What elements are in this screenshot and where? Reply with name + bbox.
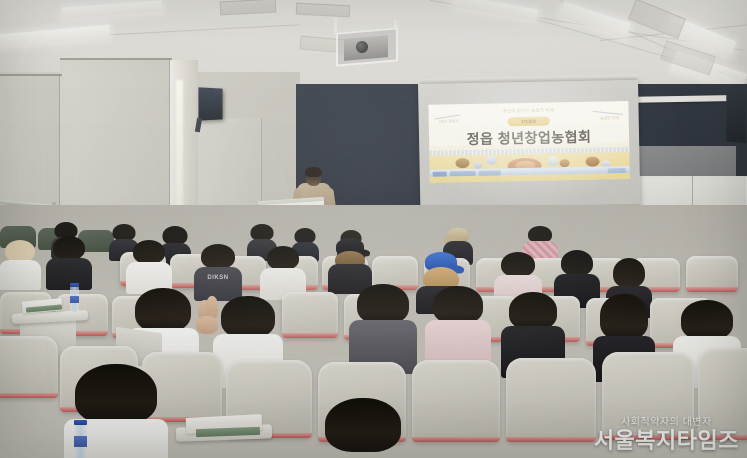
attendee-black-cap [330, 238, 370, 288]
seat-foreground[interactable] [506, 358, 596, 442]
blind-rail [0, 74, 62, 76]
slide-left-small-text: 2024 정읍시 [439, 119, 459, 124]
seminar-photo: 청년이 꿈꾸는 농업의 미래 창립총회 2024 정읍시 농업인 단체 정읍 청… [0, 0, 747, 458]
attendee [48, 236, 90, 288]
attendee-hair [501, 252, 535, 277]
bottle-label [70, 296, 79, 303]
seat-foreground[interactable] [698, 348, 747, 440]
taskbar-start-button[interactable] [433, 172, 447, 177]
slide-title: 정읍 청년창업농협회 [429, 126, 629, 150]
bottle-cap [74, 420, 87, 425]
attendee-torso [46, 258, 92, 290]
attendee-hair [613, 258, 645, 288]
attendee-hair [201, 244, 235, 269]
taskbar-item[interactable] [450, 171, 476, 176]
slide-right-small-text: 농업인 단체 [600, 116, 619, 121]
raised-hand [196, 316, 218, 334]
taskbar-tray[interactable] [608, 168, 626, 173]
attendee-foreground [318, 398, 408, 458]
attendee [352, 284, 414, 368]
attendee-hair-light [5, 240, 35, 262]
slide-badge-label: 창립총회 [521, 118, 536, 124]
food-illustration [559, 159, 569, 167]
food-illustration [485, 155, 497, 164]
attendee [128, 240, 170, 292]
seat[interactable] [686, 256, 738, 292]
attendee-hair [433, 286, 483, 324]
bottle-label [74, 436, 87, 447]
seat[interactable] [282, 292, 338, 338]
attendee: DIKSN [196, 244, 240, 298]
attendee-hair [133, 240, 165, 264]
attendee [0, 240, 40, 288]
attendee-shirt-text: DIKSN [207, 275, 228, 281]
presentation-slide: 청년이 꿈꾸는 농업의 미래 창립총회 2024 정읍시 농업인 단체 정읍 청… [428, 101, 629, 183]
attendee-hair [53, 236, 85, 260]
attendee-hair [681, 300, 733, 340]
seat-foreground[interactable] [602, 352, 694, 440]
food-illustration [547, 156, 558, 166]
taskbar-item[interactable] [479, 171, 501, 176]
food-illustration [455, 158, 469, 168]
attendee [262, 246, 304, 298]
seat-foreground[interactable] [0, 336, 58, 398]
attendee-hair [357, 284, 409, 324]
attendee-hair [600, 294, 648, 340]
projection-screen: 청년이 꿈꾸는 농업의 미래 창립총회 2024 정읍시 농업인 단체 정읍 청… [418, 80, 640, 214]
bottle-cap [70, 283, 79, 287]
wall-speaker-icon [198, 87, 222, 120]
wall-speaker-right-icon [726, 91, 746, 143]
attendee-hair [267, 246, 299, 270]
projector-lens-icon [356, 41, 368, 53]
attendee-hair [325, 398, 401, 452]
attendee-hair [509, 292, 557, 330]
attendee-hair [221, 296, 275, 338]
attendee [428, 286, 488, 370]
presenter-hair [305, 167, 322, 177]
attendee-torso [0, 260, 41, 290]
attendee-hair [75, 364, 157, 424]
attendee-hair [135, 288, 191, 332]
attendee-hair [561, 250, 593, 276]
blind-rail [60, 58, 172, 60]
food-illustration [585, 157, 599, 167]
seat-foreground[interactable] [412, 360, 500, 442]
